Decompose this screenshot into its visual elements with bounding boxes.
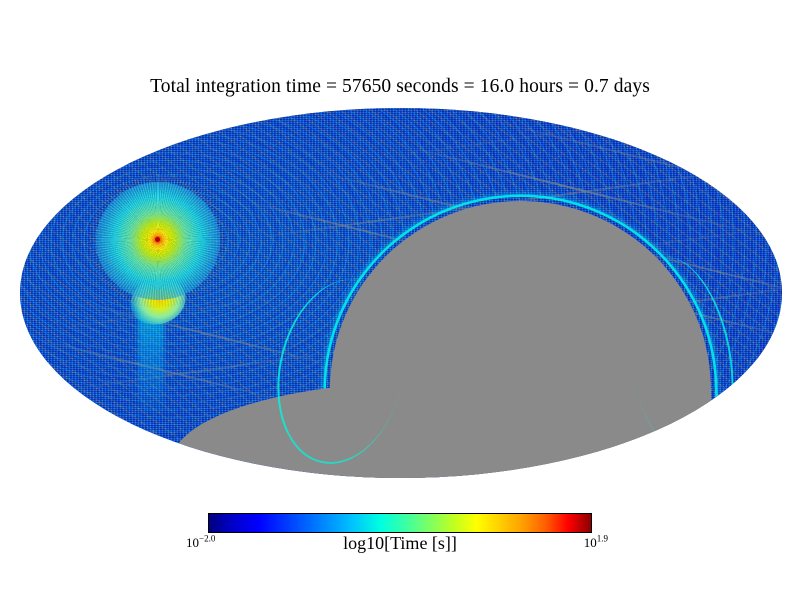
skymap-panel (20, 108, 782, 478)
colorbar-tick-max-exponent: 1.9 (597, 534, 608, 544)
colorbar-gradient (208, 513, 592, 533)
colorbar-tick-max-mantissa: 10 (584, 535, 597, 550)
colorbar-labels: 10−2.0 log10[Time [s]] 101.9 (208, 535, 592, 561)
colorbar: 10−2.0 log10[Time [s]] 101.9 (208, 513, 592, 561)
mollweide-projection-area (20, 108, 782, 478)
colorbar-axis-label: log10[Time [s]] (208, 533, 592, 554)
skymap-figure: Total integration time = 57650 seconds =… (0, 0, 800, 600)
colorbar-tick-max: 101.9 (584, 535, 608, 551)
colorbar-tick-min-mantissa: 10 (186, 535, 199, 550)
page-title: Total integration time = 57650 seconds =… (0, 76, 800, 98)
